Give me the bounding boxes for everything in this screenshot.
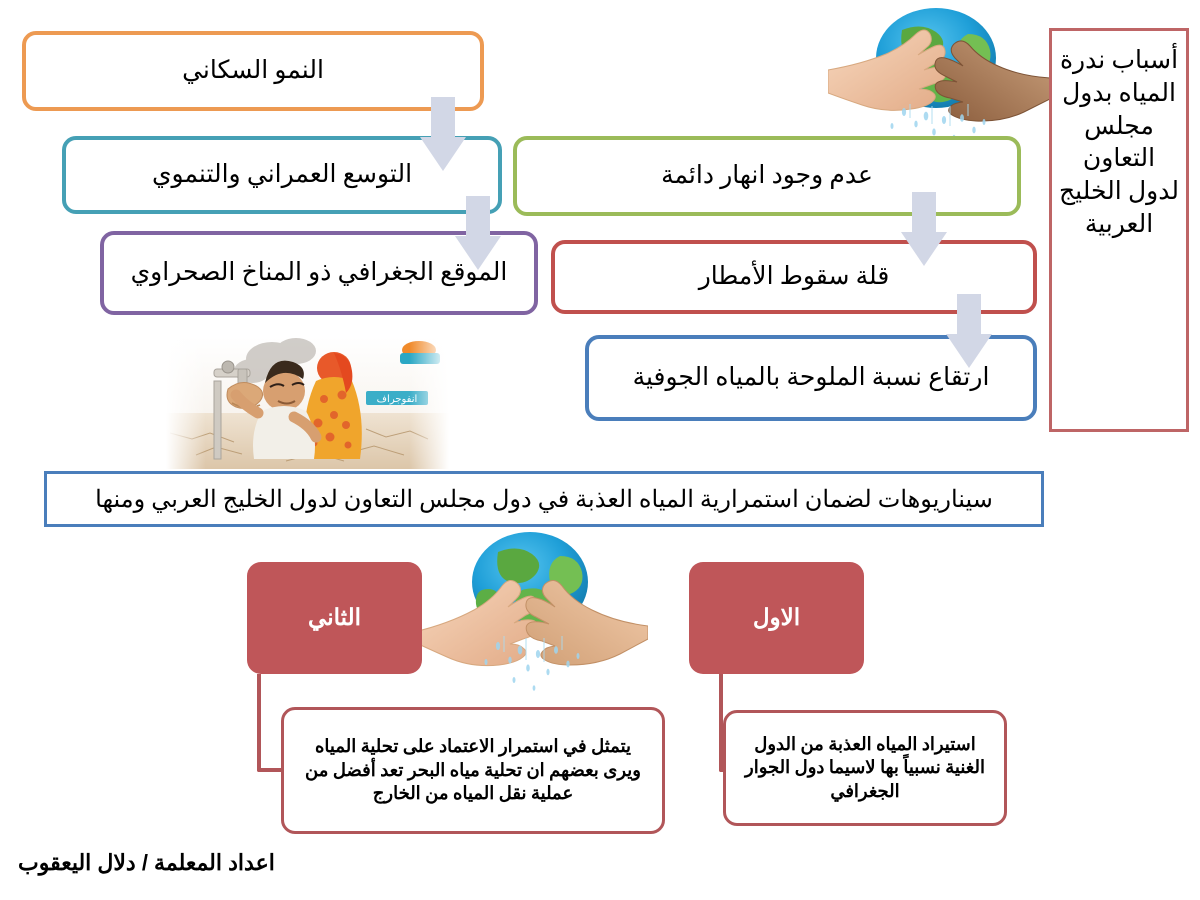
arrow-head [420,137,466,171]
cause-box-population-growth[interactable]: النمو السكاني [22,31,484,111]
flow-arrow-down-3 [901,192,947,266]
arrow-shaft [912,192,936,234]
author-credit-text: اعداد المعلمة / دلال اليعقوب [18,850,275,875]
cause-label-low-rainfall: قلة سقوط الأمطار [555,262,1033,293]
diagram-title-text: أسباب ندرة المياه بدول مجلس التعاون لدول… [1058,45,1180,242]
cause-label-no-permanent-rivers: عدم وجود انهار دائمة [517,161,1017,192]
scenario-note-second-text: يتمثل في استمرار الاعتماد على تحلية المي… [284,735,662,805]
scenario-note-first[interactable]: استيراد المياه العذبة من الدول الغنية نس… [723,710,1007,826]
arrow-shaft [431,97,455,139]
cause-label-population-growth: النمو السكاني [26,56,480,87]
scenario-chip-first[interactable]: الاول [689,562,864,674]
arrow-head [901,232,947,266]
arrow-head [946,334,992,368]
diagram-title-panel: أسباب ندرة المياه بدول مجلس التعاون لدول… [1049,28,1189,432]
slide-canvas: أسباب ندرة المياه بدول مجلس التعاون لدول… [0,0,1200,900]
arrow-shaft [957,294,981,336]
scenario-chip-first-label: الاول [753,605,800,631]
flow-arrow-down-2 [455,196,501,270]
scenario-note-second[interactable]: يتمثل في استمرار الاعتماد على تحلية المي… [281,707,665,834]
scenario-chip-second-label: الثاني [308,605,361,631]
flow-arrow-down-1 [420,97,466,171]
arrow-head [455,236,501,270]
author-credit: اعداد المعلمة / دلال اليعقوب [18,850,275,876]
scenarios-banner: سيناريوهات لضمان استمرارية المياه العذبة… [44,471,1044,527]
scenarios-banner-text: سيناريوهات لضمان استمرارية المياه العذبة… [95,485,993,514]
hands-squeezing-globe-image-bottom [408,520,648,700]
arrow-shaft [466,196,490,238]
scenario-note-first-text: استيراد المياه العذبة من الدول الغنية نس… [726,733,1004,803]
scenario-chip-second[interactable]: الثاني [247,562,422,674]
drought-child-tap-photo: انفوجراف [166,337,449,469]
flow-arrow-down-4 [946,294,992,368]
